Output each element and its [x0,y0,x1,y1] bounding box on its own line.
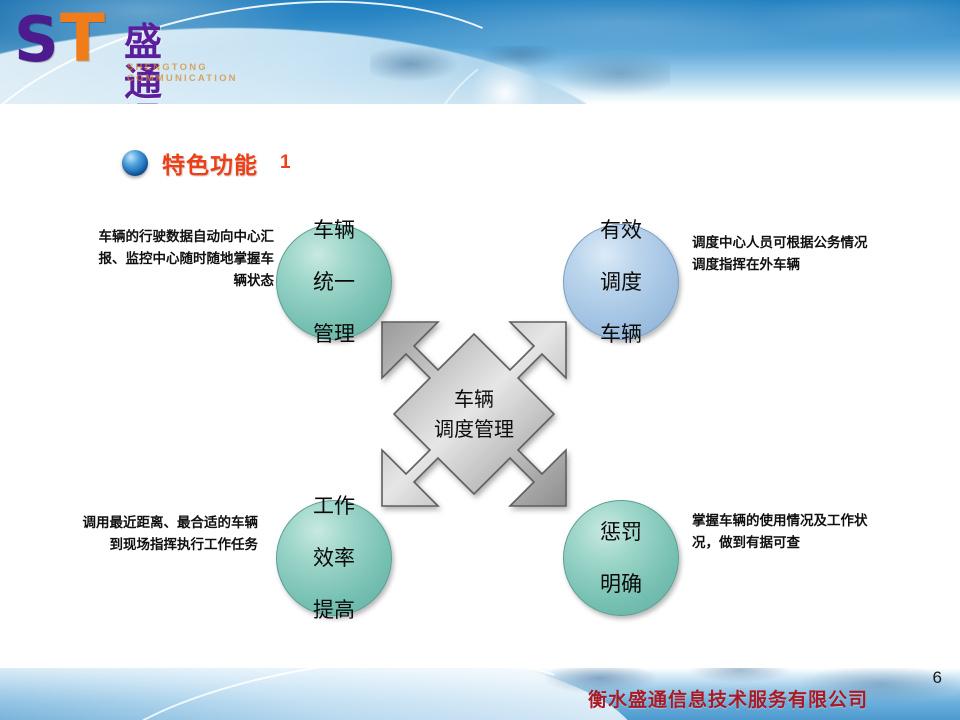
orb-bl-line-2: 效率 [313,545,355,571]
orb-br-line-1: 惩罚 [600,519,642,545]
orb-tl-line-2: 统一 [313,269,355,295]
center-four-way-arrow-shape [378,318,570,510]
footer-company-name: 衡水盛通信息技术服务有限公司 [588,685,868,712]
orb-tr-line-1: 有效 [600,217,642,243]
caption-top-right: 调度中心人员可根据公务情况调度指挥在外车辆 [692,232,880,276]
diagram-canvas: 车辆 调度管理 车辆 统一 管理 车辆的行驶数据自动向中心汇报、监控中心随时随地… [0,0,960,720]
node-orb-top-right[interactable]: 有效 调度 车辆 [563,224,679,340]
node-orb-bottom-left[interactable]: 工作 效率 提高 [276,500,392,616]
node-orb-top-left[interactable]: 车辆 统一 管理 [276,224,392,340]
caption-bottom-left: 调用最近距离、最合适的车辆到现场指挥执行工作任务 [70,512,258,556]
orb-tr-line-3: 车辆 [600,321,642,347]
orb-bl-line-1: 工作 [313,493,355,519]
orb-tr-line-2: 调度 [600,269,642,295]
orb-tl-line-3: 管理 [313,321,355,347]
orb-tl-line-1: 车辆 [313,217,355,243]
node-orb-bottom-right[interactable]: 惩罚 明确 [563,500,679,616]
orb-bl-line-3: 提高 [313,597,355,623]
caption-bottom-right: 掌握车辆的使用情况及工作状况，做到有据可查 [692,510,880,554]
page-number: 6 [933,668,942,688]
orb-br-line-2: 明确 [600,571,642,597]
slide: S T 盛通通信 SHENGTONG COMMUNICATION 特色功能 1 [0,0,960,720]
caption-top-left: 车辆的行驶数据自动向中心汇报、监控中心随时随地掌握车辆状态 [86,226,274,292]
